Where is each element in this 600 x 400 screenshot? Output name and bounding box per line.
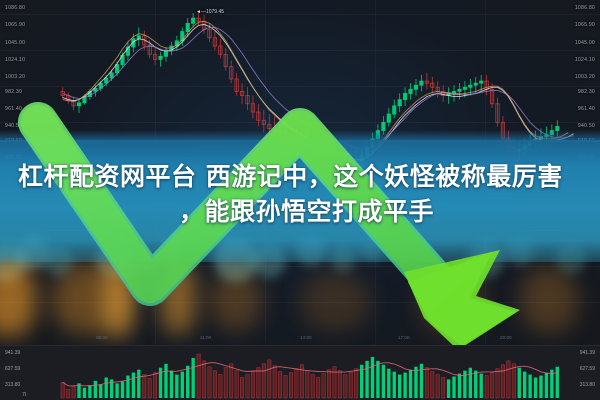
headline-line-1: 杠杆配资网平台 西游记中，这个妖怪被称最厉害 <box>18 160 582 195</box>
time-axis: 08:00 11:00 14:00 17:00 20:00 <box>0 334 600 345</box>
volume-chart-panel: 941.39 627.59 313.80 7I 941.39 627.59 31… <box>0 345 600 400</box>
volume-axis-label-left: 627.59 <box>5 366 20 372</box>
time-axis-tick: 20:00 <box>500 335 512 340</box>
time-axis-tick: 17:00 <box>398 335 410 340</box>
time-axis-tick: 14:00 <box>300 335 312 340</box>
volume-axis-label-right: 627.59 <box>580 366 595 372</box>
time-axis-tick: 08:00 <box>96 335 108 340</box>
headline-line-2: ，能跟孙悟空打成平手 <box>18 195 582 230</box>
volume-axis-label-left: 7I <box>22 392 26 398</box>
volume-axis-label-right: 313.80 <box>580 382 595 388</box>
page-title: 杠杆配资网平台 西游记中，这个妖怪被称最厉害 ，能跟孙悟空打成平手 <box>18 160 582 229</box>
volume-axis-label-left: 313.80 <box>5 382 20 388</box>
volume-series <box>0 346 600 400</box>
time-axis-tick: 11:00 <box>200 335 211 340</box>
volume-axis-label-right: 941.39 <box>580 350 595 356</box>
screenshot-root: 1086.80 1065.90 1045.00 1024.10 1003.20 … <box>0 0 600 400</box>
volume-axis-label-left: 941.39 <box>5 350 20 356</box>
